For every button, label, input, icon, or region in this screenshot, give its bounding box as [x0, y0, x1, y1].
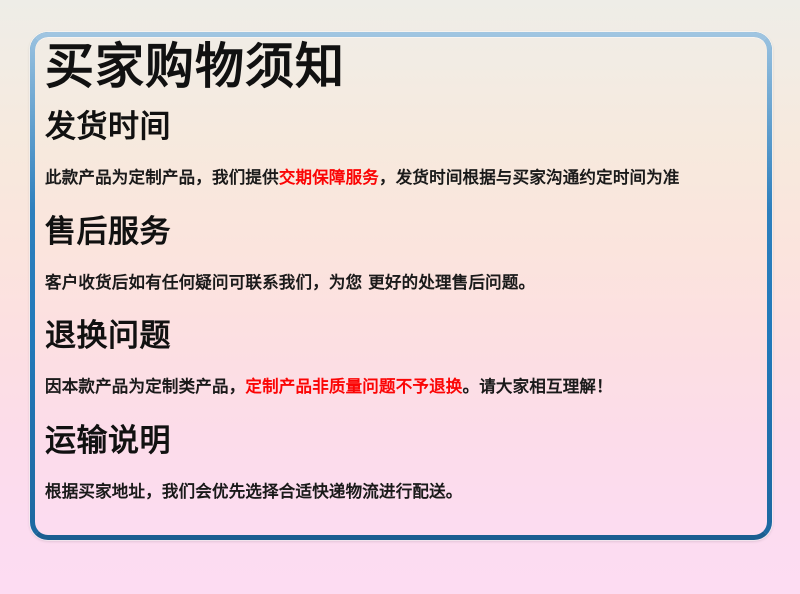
section-body-after-sales: 客户收货后如有任何疑问可联系我们，为您 更好的处理售后问题。 — [45, 275, 800, 292]
body-text-segment: 。请大家相互理解！ — [463, 377, 613, 396]
body-text-segment: 根据买家地址，我们会优先选择合适快递物流进行配送。 — [45, 482, 463, 501]
spacer — [45, 187, 800, 217]
section-heading-after-sales: 售后服务 — [45, 217, 800, 248]
section-body-shipping-time: 此款产品为定制产品，我们提供交期保障服务，发货时间根据与买家沟通约定时间为准 — [45, 170, 800, 187]
section-heading-shipping-time: 发货时间 — [45, 112, 800, 143]
spacer — [45, 352, 800, 379]
spacer — [45, 291, 800, 321]
body-text-segment: 因本款产品为定制类产品， — [45, 377, 245, 396]
body-text-segment: 此款产品为定制产品，我们提供 — [45, 168, 279, 187]
page-title: 买家购物须知 — [45, 42, 800, 91]
spacer — [45, 457, 800, 484]
spacer — [45, 143, 800, 170]
section-body-return-exchange: 因本款产品为定制类产品，定制产品非质量问题不予退换。请大家相互理解！ — [45, 379, 800, 396]
spacer — [45, 396, 800, 426]
section-body-shipping-method: 根据买家地址，我们会优先选择合适快递物流进行配送。 — [45, 484, 800, 501]
section-heading-return-exchange: 退换问题 — [45, 321, 800, 352]
section-heading-shipping-method: 运输说明 — [45, 426, 800, 457]
spacer — [45, 248, 800, 275]
body-text-segment: ，发货时间根据与买家沟通约定时间为准 — [379, 168, 680, 187]
notice-content: 买家购物须知 发货时间 此款产品为定制产品，我们提供交期保障服务，发货时间根据与… — [45, 32, 800, 540]
body-text-highlight: 交期保障服务 — [279, 168, 379, 187]
body-text-segment: 客户收货后如有任何疑问可联系我们，为您 更好的处理售后问题。 — [45, 273, 535, 292]
body-text-highlight: 定制产品非质量问题不予退换 — [245, 377, 462, 396]
